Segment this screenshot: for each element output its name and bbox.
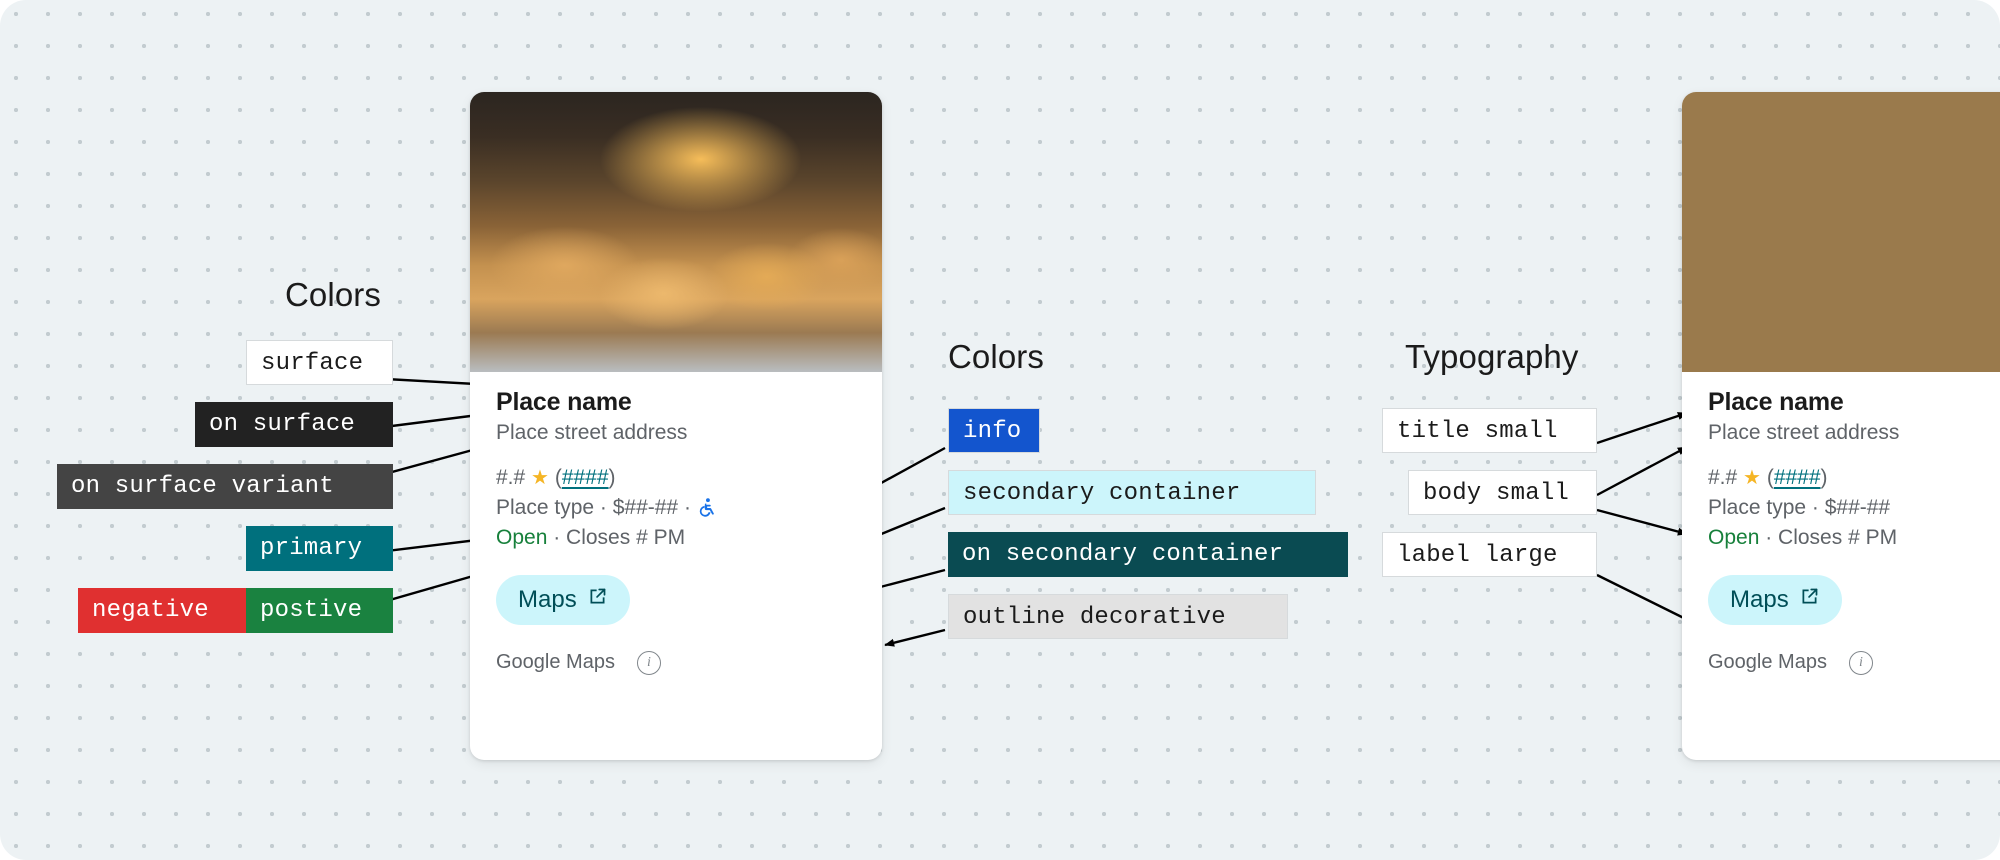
section-title-colors-mid: Colors: [948, 338, 1044, 376]
place-type-row: Place type · $##-##: [1708, 493, 2000, 523]
swatch-postive[interactable]: postive: [246, 588, 393, 633]
place-photo-bakery: [470, 92, 882, 372]
wheelchair-icon: [697, 496, 718, 519]
place-type-text: Place type · $##-## ·: [496, 496, 691, 519]
swatch-on-secondary-container[interactable]: on secondary container: [948, 532, 1348, 577]
swatch-info[interactable]: info: [948, 408, 1040, 453]
swatch-label-large[interactable]: label large: [1382, 532, 1597, 577]
maps-button-label: Maps: [518, 586, 577, 614]
maps-button-label: Maps: [1730, 586, 1789, 614]
place-photo-cafe: [1682, 92, 2000, 372]
place-card-right[interactable]: Place name Place street address #.# ★ (#…: [1682, 92, 2000, 760]
open-in-new-icon: [1799, 586, 1820, 614]
section-title-typography: Typography: [1405, 338, 1578, 376]
place-hours-row: Open · Closes # PM: [496, 523, 856, 553]
place-address: Place street address: [496, 419, 856, 447]
status-closes: · Closes # PM: [1765, 526, 1897, 549]
place-card-body: Place name Place street address #.# ★ (#…: [470, 372, 882, 625]
place-card-right-body: Place name Place street address #.# ★ (#…: [1682, 372, 2000, 625]
review-paren-open: (: [555, 466, 562, 489]
place-type-text: Place type · $##-##: [1708, 496, 1890, 519]
maps-button[interactable]: Maps: [1708, 575, 1842, 625]
maps-button[interactable]: Maps: [496, 575, 630, 625]
swatch-primary[interactable]: primary: [246, 526, 393, 571]
swatch-secondary-container[interactable]: secondary container: [948, 470, 1316, 515]
review-paren-close: ): [1821, 466, 1828, 489]
swatch-negative[interactable]: negative: [78, 588, 246, 633]
place-card-footer: Google Maps i: [470, 625, 882, 697]
info-icon[interactable]: i: [637, 651, 661, 675]
place-name: Place name: [496, 388, 856, 417]
place-meta-block: #.# ★ (####) Place type · $##-## Open · …: [1708, 463, 2000, 552]
rating-value: #.#: [496, 466, 525, 489]
review-paren-open: (: [1767, 466, 1774, 489]
status-closes: · Closes # PM: [553, 526, 685, 549]
swatch-title-small[interactable]: title small: [1382, 408, 1597, 453]
open-in-new-icon: [587, 586, 608, 614]
google-maps-label: Google Maps: [1708, 651, 1827, 674]
swatch-outline-decorative[interactable]: outline decorative: [948, 594, 1288, 639]
star-icon: ★: [531, 467, 549, 489]
place-hours-row: Open · Closes # PM: [1708, 523, 2000, 553]
place-card-center[interactable]: Place name Place street address #.# ★ (#…: [470, 92, 882, 760]
info-icon[interactable]: i: [1849, 651, 1873, 675]
status-open: Open: [1708, 526, 1759, 549]
star-icon: ★: [1743, 467, 1761, 489]
place-card-footer: Google Maps i: [1682, 625, 2000, 697]
swatch-on-surface[interactable]: on surface: [195, 402, 393, 447]
swatch-body-small[interactable]: body small: [1408, 470, 1597, 515]
swatch-surface[interactable]: surface: [246, 340, 393, 385]
place-meta-block: #.# ★ (####) Place type · $##-## ·: [496, 463, 856, 552]
google-maps-label: Google Maps: [496, 651, 615, 674]
review-paren-close: ): [609, 466, 616, 489]
place-address: Place street address: [1708, 419, 2000, 447]
section-title-colors-left: Colors: [285, 276, 381, 314]
place-rating-row: #.# ★ (####): [1708, 463, 2000, 493]
review-count-link[interactable]: ####: [562, 466, 609, 489]
place-name: Place name: [1708, 388, 2000, 417]
status-open: Open: [496, 526, 547, 549]
swatch-on-surface-variant[interactable]: on surface variant: [57, 464, 393, 509]
place-rating-row: #.# ★ (####): [496, 463, 856, 493]
rating-value: #.#: [1708, 466, 1737, 489]
place-type-row: Place type · $##-## ·: [496, 493, 856, 523]
design-annotation-canvas: Colors Colors Typography surface on surf…: [0, 0, 2000, 860]
review-count-link[interactable]: ####: [1774, 466, 1821, 489]
